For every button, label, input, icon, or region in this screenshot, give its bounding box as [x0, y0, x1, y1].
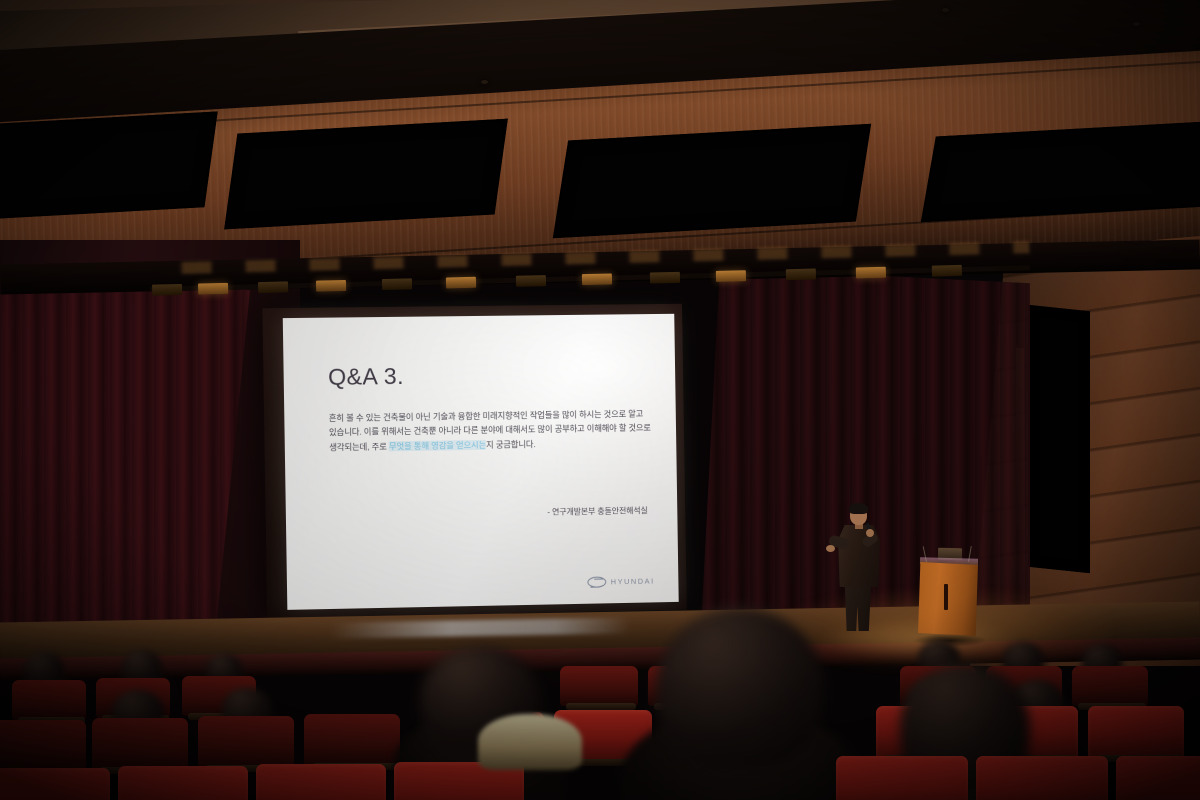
- presenter-legs: [843, 583, 873, 631]
- hyundai-h-ellipse-icon: [587, 576, 606, 587]
- row-near: [0, 636, 1200, 800]
- stage-light-fixture: [856, 267, 886, 279]
- audience-seating: [0, 636, 1200, 800]
- acoustic-panel: [224, 119, 508, 230]
- presenter-left-hand: [826, 545, 835, 552]
- stage-light-fixture: [932, 265, 962, 277]
- recessed-spotlight-icon: [942, 8, 949, 12]
- presenter-hair: [849, 503, 868, 514]
- slide-body-highlight: 무엇을 통해 영감을 얻으시는: [389, 439, 486, 450]
- slide-attribution: - 연구개발본부 충돌안전해석실: [547, 505, 647, 518]
- acoustic-panel: [553, 124, 871, 239]
- stage-light-fixture: [650, 272, 680, 284]
- projection-screen-frame: Q&A 3. 흔히 볼 수 있는 건축물이 아닌 기술과 융합한 미래지향적인 …: [262, 304, 686, 619]
- projection-screen: Q&A 3. 흔히 볼 수 있는 건축물이 아닌 기술과 융합한 미래지향적인 …: [283, 314, 679, 610]
- theater-seat: [1116, 756, 1200, 800]
- stage-light-fixture: [198, 283, 228, 295]
- theater-seat: [256, 764, 386, 800]
- presentation-slide: Q&A 3. 흔히 볼 수 있는 건축물이 아닌 기술과 융합한 미래지향적인 …: [283, 314, 679, 610]
- stage-light-fixture: [516, 275, 546, 287]
- presenter: [828, 505, 890, 630]
- stage-light-fixture: [716, 270, 746, 282]
- recessed-spotlight-icon: [481, 80, 488, 84]
- ceiling: [0, 0, 1200, 268]
- wall-recess-slot: [1028, 305, 1090, 574]
- slide-body-part-2: 지 궁금합니다.: [486, 439, 536, 450]
- presenter-right-hand: [866, 529, 874, 537]
- acoustic-panel: [921, 120, 1200, 223]
- slide-title: Q&A 3.: [328, 360, 654, 391]
- stage-light-fixture: [258, 281, 288, 293]
- audience-member-head: [656, 608, 824, 768]
- hyundai-wordmark: HYUNDAI: [611, 577, 655, 587]
- stage-light-fixture: [446, 277, 476, 289]
- acoustic-panel: [0, 111, 218, 220]
- theater-seat: [836, 756, 968, 800]
- theater-seat: [0, 768, 110, 800]
- stage-light-fixture: [152, 284, 182, 296]
- stage-curtain-left: [0, 268, 250, 638]
- slide-body: 흔히 볼 수 있는 건축물이 아닌 기술과 융합한 미래지향적인 작업들을 많이…: [329, 406, 655, 454]
- recessed-spotlight-icon: [1133, 22, 1140, 26]
- theater-seat: [976, 756, 1108, 800]
- lectern-slot: [944, 584, 948, 610]
- stage-light-fixture: [582, 273, 612, 285]
- lectern-body: [918, 562, 978, 636]
- theater-seat: [118, 766, 248, 800]
- hyundai-logo: HYUNDAI: [587, 576, 655, 588]
- stage-light-fixture: [786, 268, 816, 280]
- audience-member-cream-shirt: [478, 714, 582, 770]
- stage-light-fixture: [382, 278, 412, 290]
- auditorium-scene: Q&A 3. 흔히 볼 수 있는 건축물이 아닌 기술과 융합한 미래지향적인 …: [0, 0, 1200, 800]
- stage-light-fixture: [316, 280, 346, 292]
- wooden-lectern: [918, 548, 984, 644]
